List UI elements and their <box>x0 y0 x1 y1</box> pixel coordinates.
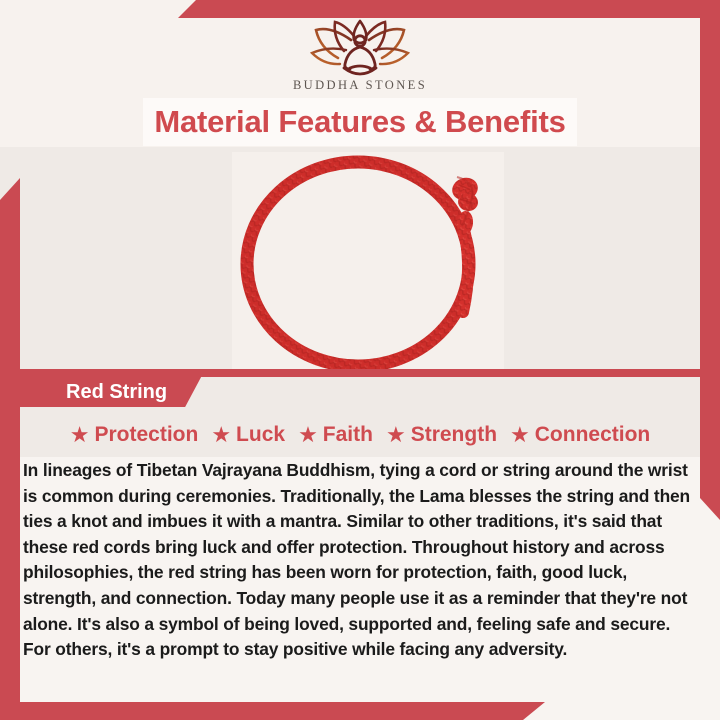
benefit-label: Connection <box>535 423 651 447</box>
red-string-bracelet-illustration <box>232 152 504 372</box>
benefit-item: ★ Strength <box>386 423 497 447</box>
page-title: Material Features & Benefits <box>143 98 577 146</box>
product-label-banner: Red String <box>20 377 201 407</box>
decor-red-divider <box>20 369 720 377</box>
benefit-item: ★ Faith <box>298 423 373 447</box>
product-feature-poster: BUDDHA STONES Material Features & Benefi… <box>0 0 720 720</box>
star-icon: ★ <box>510 424 530 446</box>
benefit-label: Strength <box>411 423 497 447</box>
star-icon: ★ <box>211 424 231 446</box>
benefit-item: ★ Luck <box>211 423 285 447</box>
benefits-row: ★ Protection ★ Luck ★ Faith ★ Strength ★… <box>20 417 700 453</box>
brand-name: BUDDHA STONES <box>293 78 427 93</box>
page-title-text: Material Features & Benefits <box>154 104 565 140</box>
product-label-text: Red String <box>66 381 167 404</box>
lotus-meditation-icon <box>304 18 416 76</box>
benefit-label: Faith <box>323 423 373 447</box>
star-icon: ★ <box>298 424 318 446</box>
star-icon: ★ <box>386 424 406 446</box>
description-text: In lineages of Tibetan Vajrayana Buddhis… <box>23 458 697 663</box>
brand-logo: BUDDHA STONES <box>0 18 720 96</box>
benefit-label: Protection <box>94 423 198 447</box>
benefit-item: ★ Connection <box>510 423 650 447</box>
benefit-item: ★ Protection <box>70 423 199 447</box>
decor-left-red-bar <box>0 178 20 708</box>
star-icon: ★ <box>70 424 90 446</box>
benefit-label: Luck <box>236 423 285 447</box>
product-image <box>232 152 504 372</box>
